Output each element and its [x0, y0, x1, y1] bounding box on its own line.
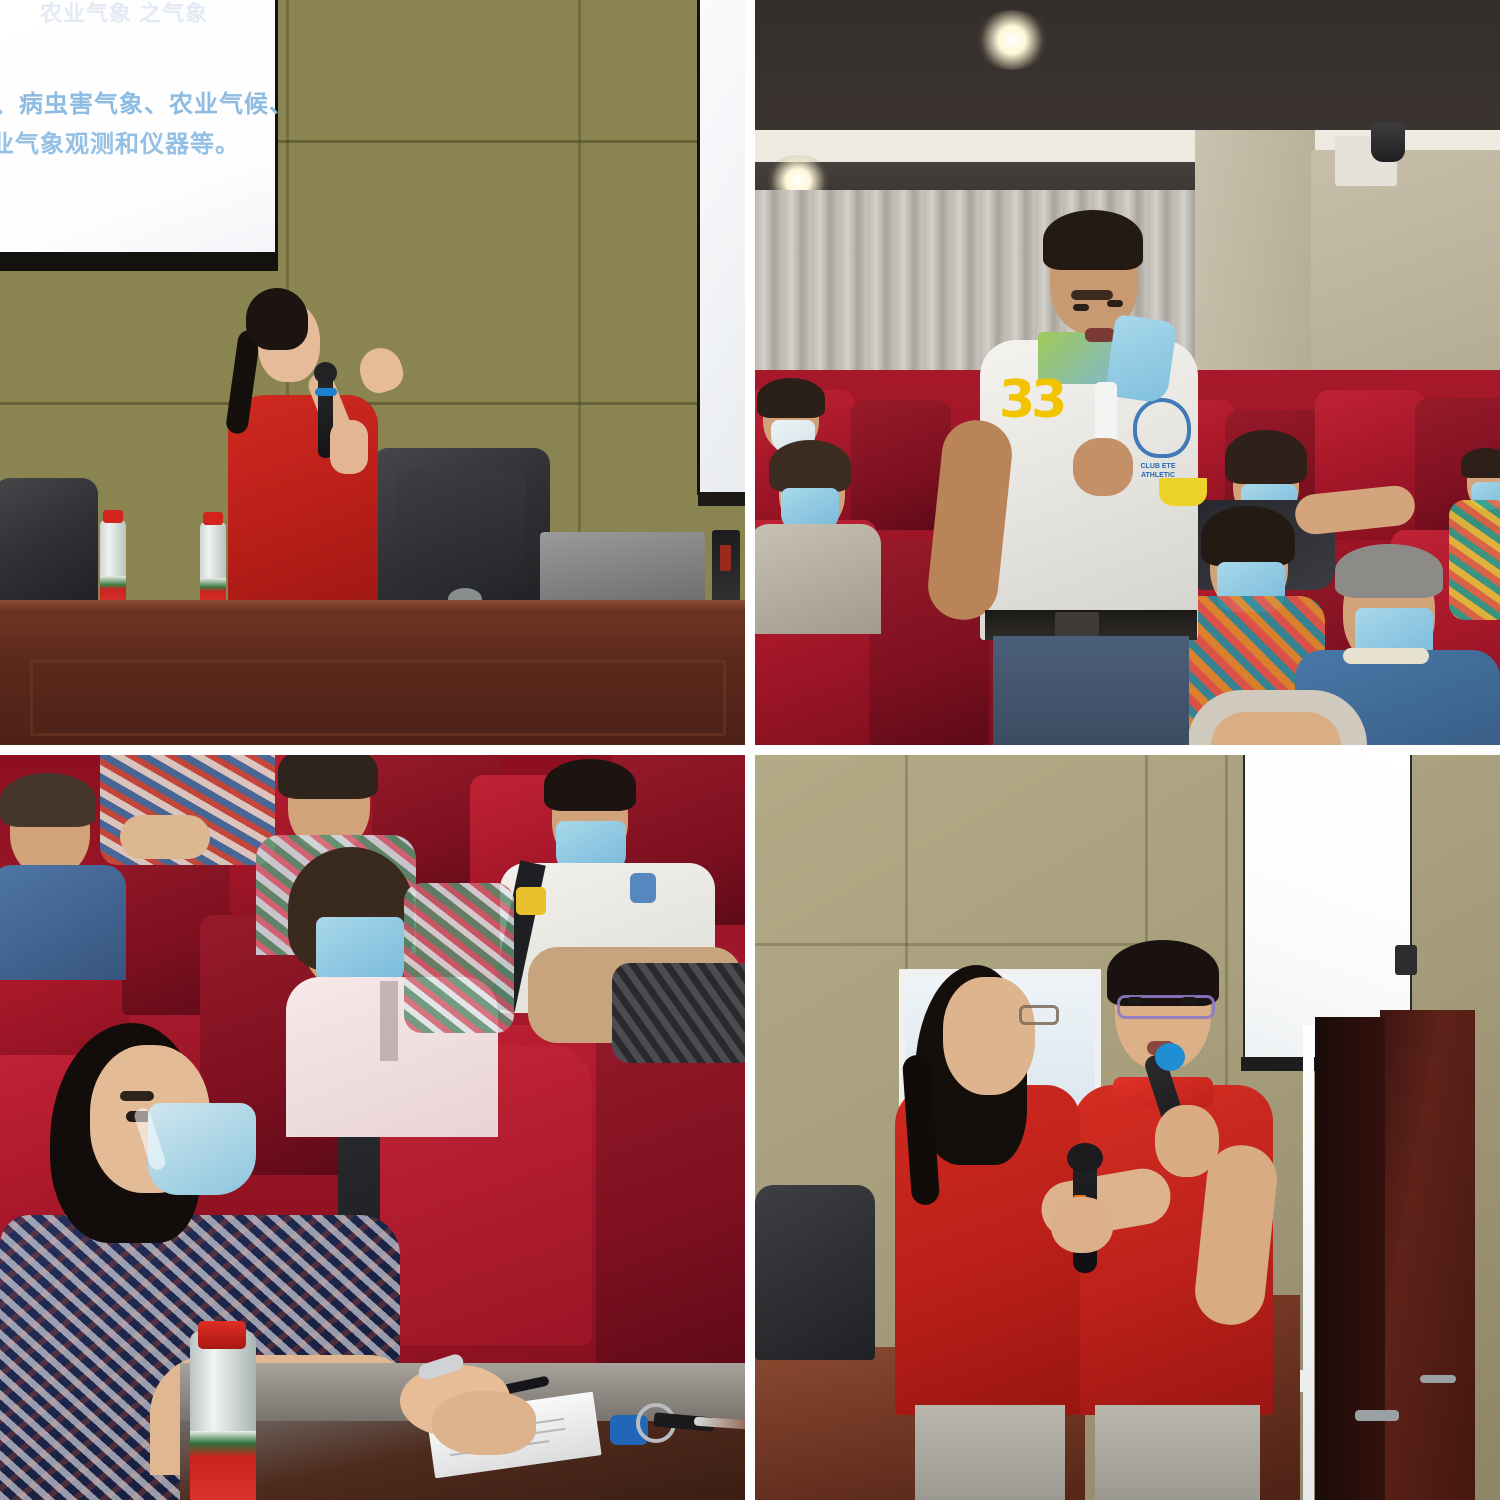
- audience-torso: [404, 883, 514, 1033]
- audience-hair: [1201, 506, 1295, 566]
- belt-buckle: [1055, 612, 1099, 638]
- screen-line-title: 农业气象 之气象: [40, 0, 208, 28]
- laptop: [540, 532, 705, 602]
- photo-bottom-left: Masked audience members seated in red au…: [0, 755, 745, 1500]
- chair-cushion: [396, 470, 526, 590]
- face-mask: [148, 1103, 256, 1195]
- eye: [1181, 997, 1197, 1005]
- audience-hair: [1461, 448, 1500, 478]
- speaker-hand: [354, 343, 408, 398]
- security-camera-icon: [1371, 122, 1405, 162]
- light-switch: [1395, 945, 1417, 975]
- av-device-label: [720, 545, 731, 571]
- sleeve-number: 33: [999, 370, 1069, 426]
- projection-screen: 农业气象 之气象 、病虫害气象、农业气候、 业气象观测和仪器等。: [0, 0, 275, 268]
- audience-shorts: [612, 963, 745, 1063]
- bottle-cap: [198, 1321, 246, 1349]
- audience-torso: [755, 524, 881, 634]
- audience-torso: [0, 865, 126, 980]
- audience-torso: [1449, 500, 1500, 620]
- audience-hair: [757, 378, 825, 418]
- microphone-head: [1155, 1043, 1185, 1071]
- chest-logo-icon: [1133, 398, 1191, 458]
- audience-hair: [0, 773, 96, 827]
- wall-seam: [905, 755, 908, 985]
- door-handle: [1420, 1375, 1456, 1383]
- questioner-hand: [1073, 438, 1133, 496]
- secondary-projection-screen: [700, 0, 745, 495]
- eye: [1073, 304, 1089, 311]
- office-chair: [755, 1185, 875, 1360]
- microphone-head: [1067, 1143, 1103, 1173]
- photo-top-right: 33 CLUB ETE ATHLETIC Elderly man standin…: [755, 0, 1500, 745]
- mouth: [1085, 328, 1115, 342]
- sleeve-patch: [516, 887, 546, 915]
- wooden-door: [1380, 1010, 1475, 1500]
- wooden-door-panel: [1315, 1017, 1385, 1500]
- eye: [1127, 997, 1143, 1005]
- screen-line-1: 、病虫害气象、农业气候、: [0, 84, 294, 119]
- ceiling-spotlight: [973, 10, 1051, 70]
- grey-trousers: [1095, 1405, 1260, 1500]
- photo-bottom-right: Two students in matching red polo shirts…: [755, 755, 1500, 1500]
- audience-hair: [1335, 544, 1443, 598]
- speaker-hair: [246, 288, 308, 350]
- projection-screen-frame: [0, 252, 278, 268]
- wall-seam: [0, 402, 745, 405]
- eyebrow: [120, 1091, 154, 1101]
- audience-hair: [544, 759, 636, 811]
- microphone-head: [314, 362, 337, 384]
- questioner-hair: [1043, 210, 1143, 270]
- audience-face: [1211, 712, 1341, 745]
- photo-top-left: 农业气象 之气象 、病虫害气象、农业气候、 业气象观测和仪器等。: [0, 0, 745, 745]
- note-taker-hand: [432, 1391, 536, 1455]
- chest-logo-text: CLUB ETE ATHLETIC: [1127, 462, 1189, 480]
- secondary-screen-frame: [698, 492, 745, 506]
- bottle-cap: [203, 512, 223, 525]
- chest-logo-icon: [630, 873, 656, 903]
- student-assistant-hand: [1051, 1197, 1113, 1253]
- door-handle: [1355, 1410, 1399, 1421]
- wall-seam: [755, 943, 1185, 946]
- audience-hair: [769, 440, 851, 492]
- student-assistant-head: [943, 977, 1035, 1095]
- ceiling: [755, 0, 1500, 138]
- podium-front-panel: [30, 660, 726, 736]
- polo-placket: [380, 981, 398, 1061]
- speaker-holding-hand: [330, 420, 368, 474]
- screen-line-2: 业气象观测和仪器等。: [0, 124, 240, 159]
- audience-hair: [1225, 430, 1307, 484]
- blue-jeans: [993, 636, 1189, 745]
- podium-desk-edge: [0, 600, 745, 614]
- eyeglasses-icon: [1019, 1005, 1059, 1025]
- audience-hair: [278, 755, 378, 799]
- bottle-label: [190, 1431, 256, 1500]
- audience-hand: [120, 815, 210, 859]
- necklace: [1343, 648, 1429, 664]
- office-chair: [0, 478, 98, 610]
- eye: [1107, 300, 1123, 307]
- bottle-cap: [103, 510, 123, 523]
- door-light-gap: [1303, 1025, 1314, 1500]
- polo-sleeve-trim: [1159, 478, 1207, 506]
- eyebrow: [1071, 290, 1113, 300]
- grey-trousers: [915, 1405, 1065, 1500]
- photo-collage: 农业气象 之气象 、病虫害气象、农业气候、 业气象观测和仪器等。: [0, 0, 1500, 1500]
- microphone-ring: [315, 388, 337, 396]
- wall-seam: [578, 0, 581, 610]
